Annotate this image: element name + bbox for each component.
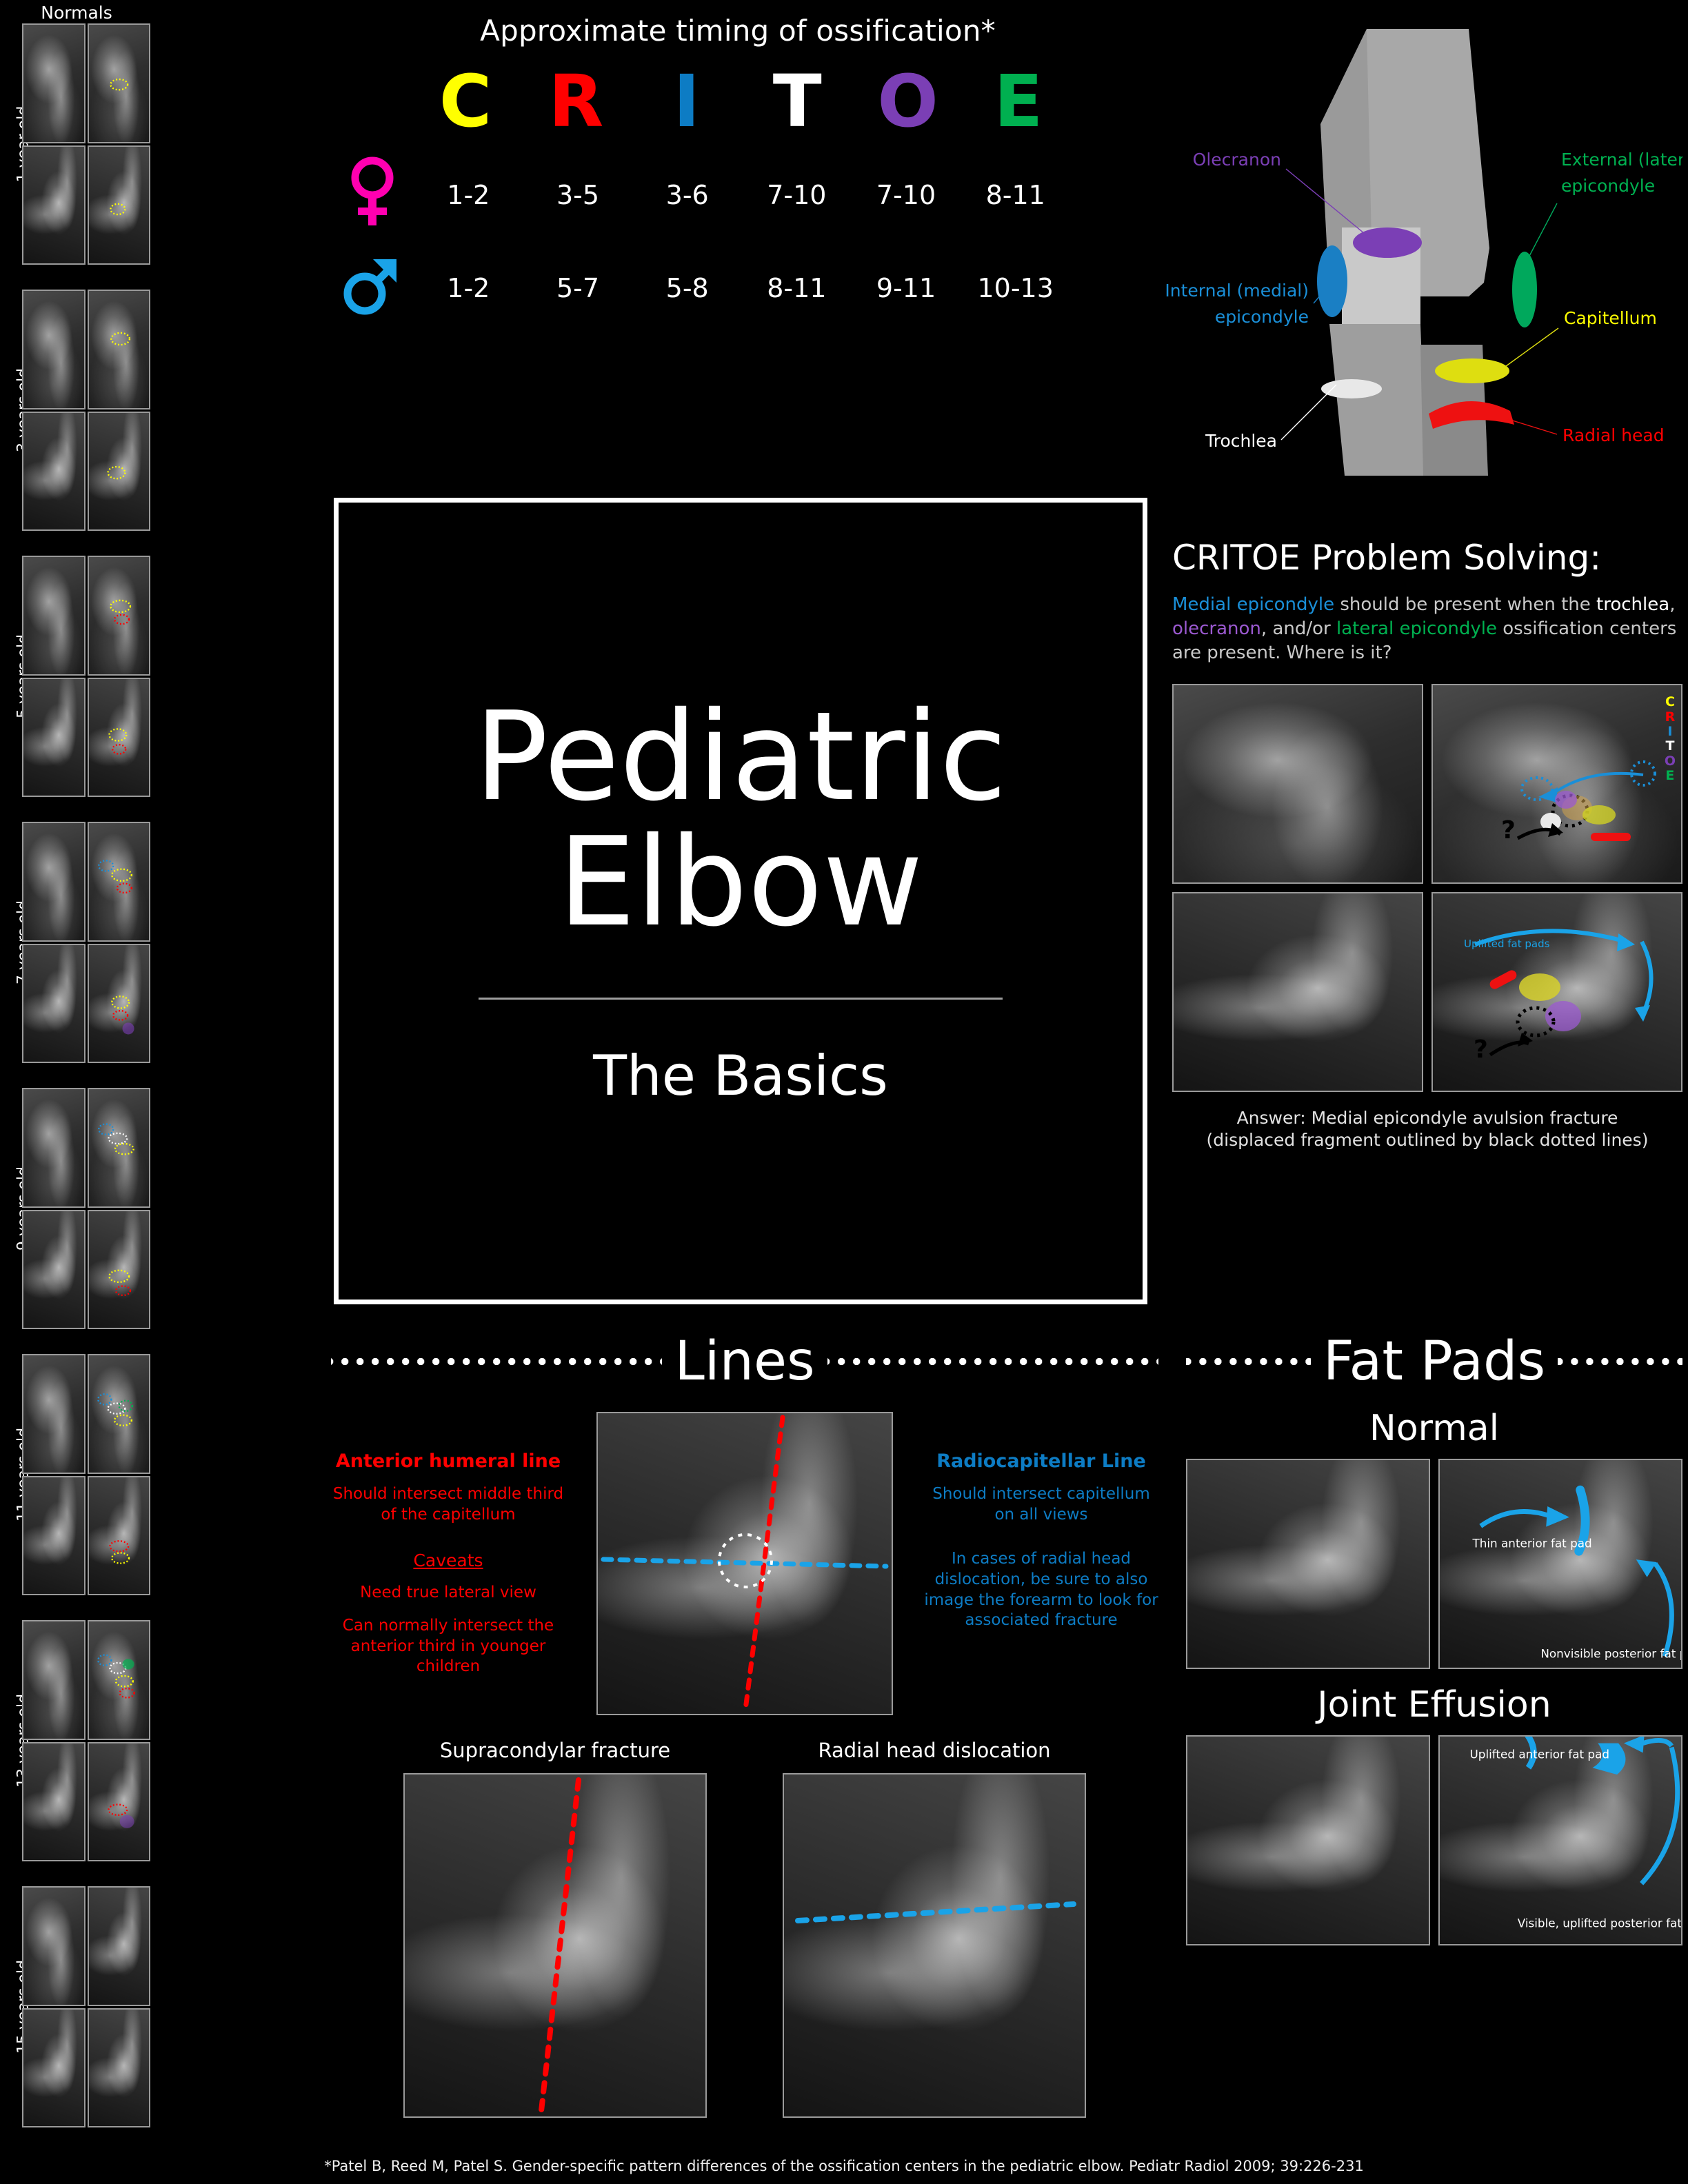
ahl-rule: Should intersect middle third of the cap… xyxy=(331,1484,565,1526)
age-block-9-years: 9 years old xyxy=(0,1088,153,1329)
lines-section: Lines Anterior humeral line Should inter… xyxy=(331,1331,1158,2118)
xray-ap-annotated xyxy=(88,556,151,676)
age-block-13-years: 13 years old xyxy=(0,1620,153,1861)
xray-effusion-unannotated xyxy=(1186,1735,1430,1945)
xray-ap-unannotated xyxy=(1172,684,1423,884)
elbow-anatomy-diagram: Olecranon External (lateral) epicondyle … xyxy=(1145,21,1682,476)
lines-heading: Lines xyxy=(674,1331,814,1393)
age-xray-grid xyxy=(22,23,150,265)
answer-line-2: (displaced fragment outlined by black do… xyxy=(1172,1129,1682,1151)
ossification-timing-panel: Approximate timing of ossification* C R … xyxy=(331,14,1145,323)
nonvisible-posterior-fat-pad-label: Nonvisible posterior fat pad xyxy=(1540,1646,1681,1660)
fat-pads-heading: Fat Pads xyxy=(1323,1331,1545,1393)
xray-lateral xyxy=(22,944,86,1064)
fat-pads-effusion-label: Joint Effusion xyxy=(1186,1684,1682,1726)
xray-lateral-lines-demo xyxy=(596,1412,893,1715)
ps-trochlea: trochlea xyxy=(1596,594,1669,615)
fat-pads-section: Fat Pads Normal Thin anterior fat pad No… xyxy=(1186,1331,1682,1945)
normals-title: Normals xyxy=(0,3,153,23)
male-c-value: 1-2 xyxy=(414,273,523,303)
trochlea-label: Trochlea xyxy=(1205,431,1277,451)
ps-olecranon: olecranon xyxy=(1172,618,1261,639)
female-o-value: 7-10 xyxy=(852,180,961,210)
female-i-value: 3-6 xyxy=(632,180,742,210)
xray-ap-annotated xyxy=(88,1088,151,1208)
xray-lateral-annotated xyxy=(88,1742,151,1862)
xray-ap xyxy=(22,822,86,942)
male-values: 1-2 5-7 5-8 8-11 9-11 10-13 xyxy=(414,273,1070,303)
answer-line-1: Answer: Medial epicondyle avulsion fract… xyxy=(1172,1107,1682,1129)
age-block-5-years: 5 years old xyxy=(0,556,153,797)
ps-text-6: , and/or xyxy=(1261,618,1336,639)
xray-lateral-annotated: ? Uplifted fat pads xyxy=(1431,892,1682,1092)
fat-pads-effusion-images: Uplifted anterior fat pad Visible, uplif… xyxy=(1186,1735,1682,1945)
problem-solving-body: Medial epicondyle should be present when… xyxy=(1172,593,1682,665)
xray-lateral-annotated xyxy=(88,412,151,532)
olecranon-label: Olecranon xyxy=(1193,150,1281,170)
xray-ap-annotated xyxy=(88,23,151,143)
footer-citation: *Patel B, Reed M, Patel S. Gender-specif… xyxy=(0,2158,1688,2174)
age-xray-grid xyxy=(22,1886,150,2127)
age-block-11-years: 11 years old xyxy=(0,1354,153,1595)
xray-effusion-annotated: Uplifted anterior fat pad Visible, uplif… xyxy=(1438,1735,1682,1945)
xray-lateral-annotated xyxy=(88,1476,151,1596)
fat-pads-heading-row: Fat Pads xyxy=(1186,1331,1682,1393)
age-block-3-years: 3 years old xyxy=(0,290,153,531)
question-mark: ? xyxy=(1474,1035,1488,1064)
lateral-epicondyle-label-1: External (lateral) xyxy=(1561,150,1682,170)
male-o-value: 9-11 xyxy=(852,273,961,303)
xray-supracondylar-fracture xyxy=(403,1773,707,2118)
dotted-rule-left xyxy=(331,1358,662,1365)
female-symbol-icon xyxy=(331,155,414,234)
ps-lateral-epicondyle: lateral epicondyle xyxy=(1336,618,1497,639)
critoe-letter-c: C xyxy=(414,65,517,137)
ahl-caveats-label: Caveats xyxy=(331,1550,565,1570)
xray-lateral xyxy=(22,412,86,532)
xray-normal-annotated: Thin anterior fat pad Nonvisible posteri… xyxy=(1438,1459,1682,1669)
male-r-value: 5-7 xyxy=(523,273,633,303)
radiocapitellar-line-text: Radiocapitellar Line Should intersect ca… xyxy=(924,1412,1158,1631)
xray-lateral-unannotated xyxy=(1172,892,1423,1092)
age-xray-grid xyxy=(22,1354,150,1595)
ps-medial-epicondyle: Medial epicondyle xyxy=(1172,594,1334,615)
xray-lateral-1 xyxy=(88,1886,151,2006)
age-xray-grid xyxy=(22,556,150,797)
dotted-rule-right xyxy=(827,1358,1158,1365)
xray-ap-annotated xyxy=(88,290,151,410)
xray-radial-head-dislocation xyxy=(783,1773,1086,2118)
critoe-letter-r: R xyxy=(524,65,627,137)
age-xray-grid xyxy=(22,1620,150,1861)
xray-ap xyxy=(22,290,86,410)
thin-anterior-fat-pad-label: Thin anterior fat pad xyxy=(1471,1536,1591,1550)
critoe-problem-solving-panel: CRITOE Problem Solving: Medial epicondyl… xyxy=(1172,538,1682,1151)
ahl-caveat-1: Need true lateral view xyxy=(331,1583,565,1604)
rcl-rule: Should intersect capitellum on all views xyxy=(924,1484,1158,1526)
xray-ap-annotated xyxy=(88,1620,151,1740)
supracondylar-fracture-case: Supracondylar fracture xyxy=(403,1739,707,2118)
timing-title: Approximate timing of ossification* xyxy=(331,14,1145,48)
male-symbol-icon xyxy=(331,252,414,323)
female-e-value: 8-11 xyxy=(961,180,1070,210)
fat-pads-normal-images: Thin anterior fat pad Nonvisible posteri… xyxy=(1186,1459,1682,1669)
critoe-letter-t: T xyxy=(745,65,849,137)
title-line-1: Pediatric xyxy=(474,694,1007,820)
xray-ap xyxy=(22,1088,86,1208)
uplifted-anterior-fat-pad-label: Uplifted anterior fat pad xyxy=(1470,1747,1610,1761)
lines-heading-row: Lines xyxy=(331,1331,1158,1393)
age-xray-grid xyxy=(22,290,150,531)
xray-lateral xyxy=(22,1210,86,1330)
visible-uplifted-posterior-fat-pad-label: Visible, uplifted posterior fat pad xyxy=(1518,1917,1681,1930)
problem-solving-images-row-1: C R I T O E xyxy=(1172,684,1682,884)
uplifted-fat-pads-label: Uplifted fat pads xyxy=(1464,938,1550,950)
xray-ap xyxy=(22,1354,86,1474)
xray-lateral xyxy=(22,678,86,798)
lines-demo-image-wrap xyxy=(565,1412,924,1715)
anterior-humeral-line-text: Anterior humeral line Should intersect m… xyxy=(331,1412,565,1677)
lines-main-row: Anterior humeral line Should intersect m… xyxy=(331,1412,1158,1715)
ahl-caveat-2: Can normally intersect the anterior thir… xyxy=(331,1616,565,1678)
xray-lateral xyxy=(22,145,86,265)
case-2-caption: Radial head dislocation xyxy=(783,1739,1086,1762)
problem-solving-heading: CRITOE Problem Solving: xyxy=(1172,538,1682,578)
age-xray-grid xyxy=(22,1088,150,1329)
problem-solving-images-row-2: ? Uplifted fat pads xyxy=(1172,892,1682,1092)
critoe-letter-e: E xyxy=(967,65,1070,137)
radial-head-dislocation-case: Radial head dislocation xyxy=(783,1739,1086,2118)
lateral-epicondyle-label-2: epicondyle xyxy=(1561,176,1655,196)
male-i-value: 5-8 xyxy=(632,273,742,303)
male-t-value: 8-11 xyxy=(742,273,852,303)
case-1-caption: Supracondylar fracture xyxy=(403,1739,707,1762)
rcl-title: Radiocapitellar Line xyxy=(924,1450,1158,1472)
medial-epicondyle-label-2: epicondyle xyxy=(1215,307,1309,327)
radial-head-label: Radial head xyxy=(1563,425,1665,445)
xray-ap xyxy=(22,1620,86,1740)
xray-lateral xyxy=(22,1742,86,1862)
male-timing-row: 1-2 5-7 5-8 8-11 9-11 10-13 xyxy=(331,252,1145,323)
xray-lateral-annotated xyxy=(88,944,151,1064)
poster-root: Normals 1 year old 3 years old 5 years o… xyxy=(0,0,1688,2184)
xray-lateral xyxy=(22,1476,86,1596)
female-r-value: 3-5 xyxy=(523,180,633,210)
rcl-note: In cases of radial head dislocation, be … xyxy=(924,1549,1158,1632)
ps-text-2: should be present when the xyxy=(1334,594,1596,615)
xray-ap-annotated: C R I T O E xyxy=(1431,684,1682,884)
xray-lateral-2 xyxy=(22,2008,86,2128)
poster-title-card: Pediatric Elbow The Basics xyxy=(334,498,1147,1304)
dotted-rule-right xyxy=(1558,1358,1682,1365)
age-block-15-years: 15 years old xyxy=(0,1886,153,2127)
age-block-1-year: 1 year old xyxy=(0,23,153,265)
trochlea-center xyxy=(1321,379,1382,398)
xray-ap-annotated xyxy=(88,822,151,942)
critoe-letter-o: O xyxy=(856,65,960,137)
ahl-title: Anterior humeral line xyxy=(331,1450,565,1472)
xray-lateral-annotated xyxy=(88,678,151,798)
title-line-2: Elbow xyxy=(558,820,923,945)
male-e-value: 10-13 xyxy=(961,273,1070,303)
female-values: 1-2 3-5 3-6 7-10 7-10 8-11 xyxy=(414,180,1070,210)
capitellum-center xyxy=(1435,358,1509,383)
medial-epicondyle-label-1: Internal (medial) xyxy=(1165,281,1309,301)
lateral-epicondyle-center xyxy=(1512,252,1537,327)
fat-pads-normal-label: Normal xyxy=(1186,1408,1682,1449)
normals-column: Normals 1 year old 3 years old 5 years o… xyxy=(0,0,153,2123)
xray-normal-unannotated xyxy=(1186,1459,1430,1669)
medial-epicondyle-center xyxy=(1317,245,1347,317)
female-timing-row: 1-2 3-5 3-6 7-10 7-10 8-11 xyxy=(331,155,1145,234)
capitellum-label: Capitellum xyxy=(1564,308,1657,328)
ps-text-4: , xyxy=(1669,594,1675,615)
problem-solving-answer: Answer: Medial epicondyle avulsion fract… xyxy=(1172,1107,1682,1151)
dotted-rule-left xyxy=(1186,1358,1311,1365)
xray-ap-annotated xyxy=(88,1354,151,1474)
xray-ap xyxy=(22,1886,86,2006)
female-c-value: 1-2 xyxy=(414,180,523,210)
xray-lateral-annotated xyxy=(88,1210,151,1330)
age-xray-grid xyxy=(22,822,150,1063)
xray-ap xyxy=(22,556,86,676)
xray-ap xyxy=(22,23,86,143)
lines-case-row: Supracondylar fracture Radial head dislo… xyxy=(331,1739,1158,2118)
critoe-letters: C R I T O E xyxy=(414,65,1070,137)
title-divider xyxy=(479,998,1003,1000)
title-subtitle: The Basics xyxy=(593,1044,888,1108)
xray-lateral-3 xyxy=(88,2008,151,2128)
age-block-7-years: 7 years old xyxy=(0,822,153,1063)
critoe-letter-i: I xyxy=(635,65,738,137)
question-mark: ? xyxy=(1501,816,1516,845)
female-t-value: 7-10 xyxy=(742,180,852,210)
xray-lateral-annotated xyxy=(88,145,151,265)
